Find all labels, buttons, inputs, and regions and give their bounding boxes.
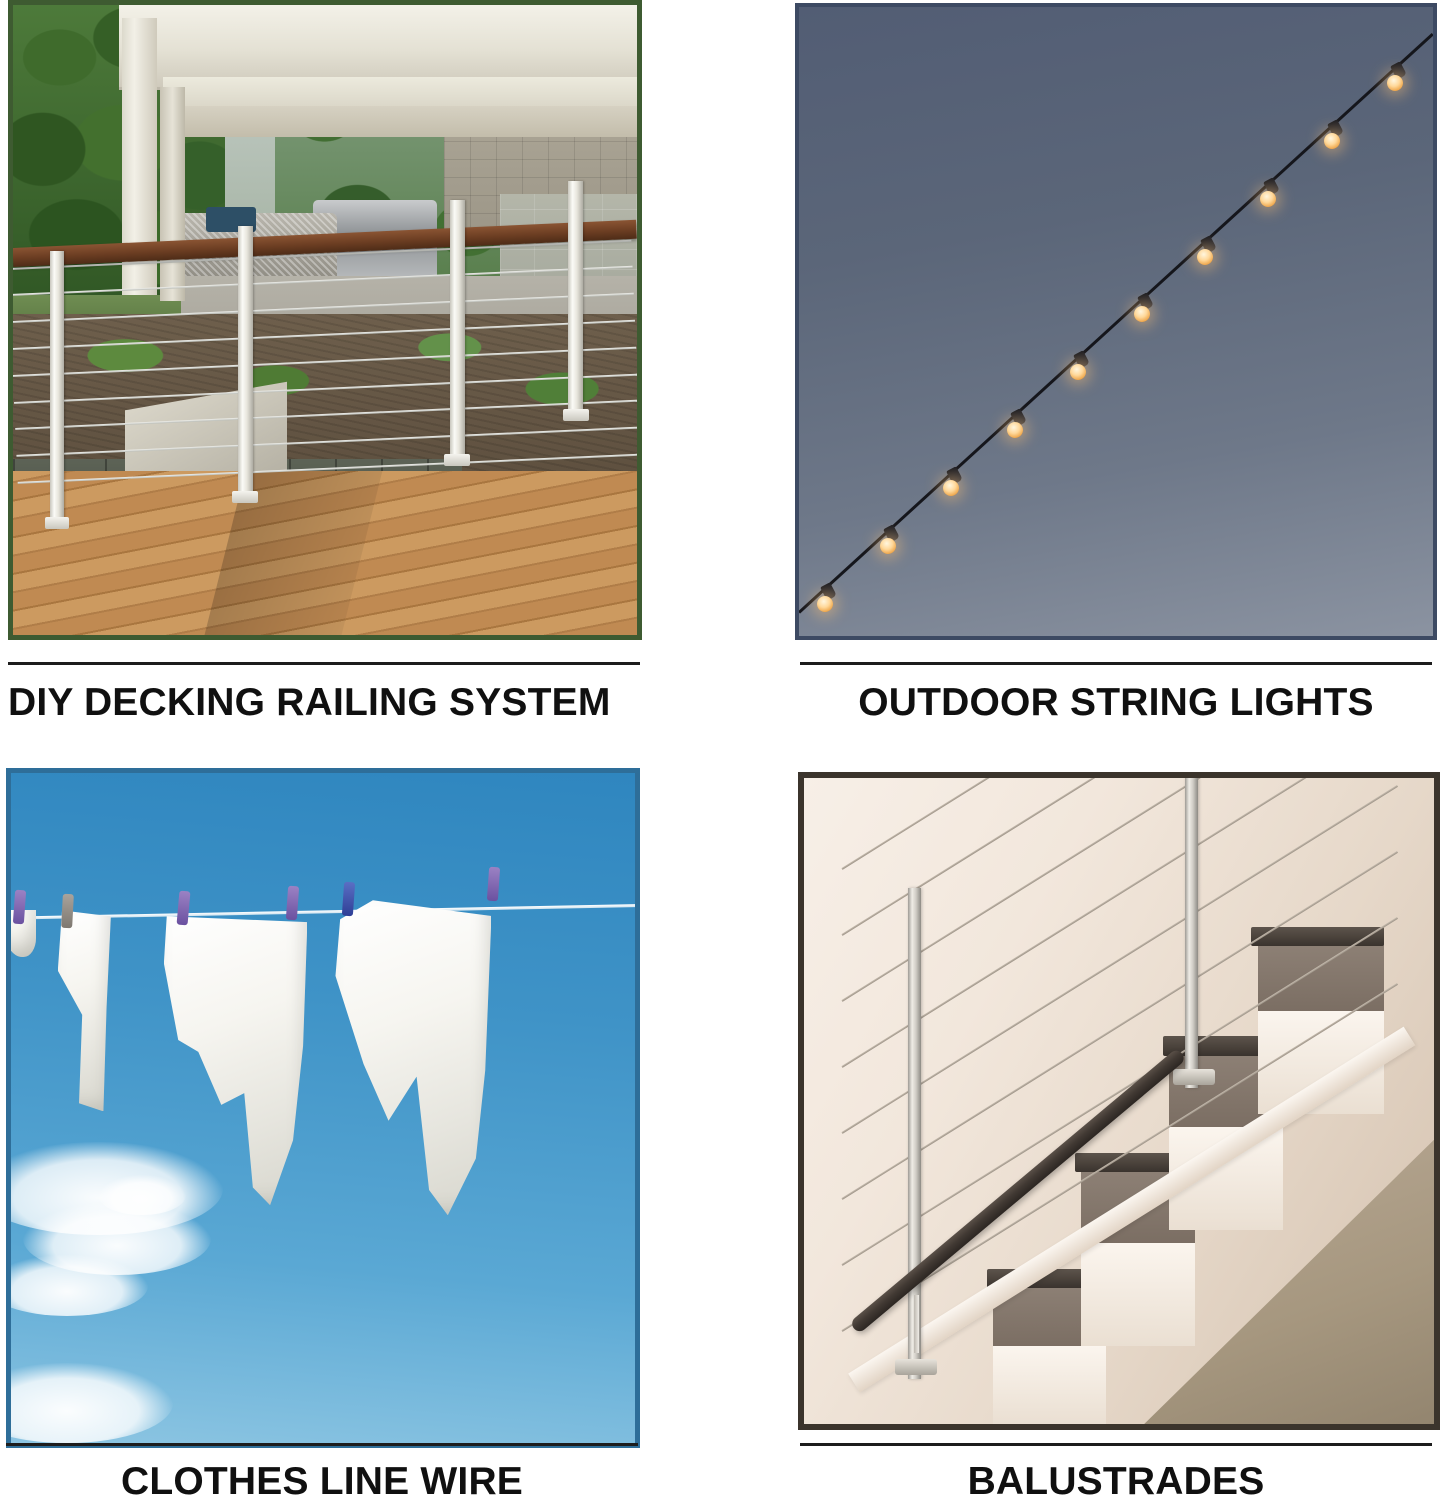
railing-cable-8	[16, 427, 639, 457]
handrail-support-bracket	[914, 1295, 919, 1353]
balustrade-post-2-base	[1173, 1069, 1215, 1085]
balustrade-cable-7	[841, 917, 1398, 1266]
light-bulb-5	[1070, 364, 1086, 380]
railing-post-1	[50, 251, 64, 522]
cloud-5	[98, 1175, 185, 1215]
railing-cable-7	[15, 400, 638, 430]
light-bulb-3	[943, 480, 959, 496]
light-bulb-4	[1007, 422, 1023, 438]
balustrade-cable-8	[841, 983, 1398, 1332]
light-bulb-9	[1324, 133, 1340, 149]
balustrade-cable-6	[841, 851, 1398, 1200]
balustrade-cable-1	[841, 772, 1398, 870]
railing-cables	[8, 235, 642, 496]
balustrade-cable-2	[841, 772, 1398, 936]
string-lights-caption-text: OUTDOOR STRING LIGHTS	[800, 681, 1432, 725]
light-bulb-6	[1134, 306, 1150, 322]
deck-railing-caption-text: DIY DECKING RAILING SYSTEM	[8, 681, 640, 725]
light-bulb-7	[1197, 249, 1213, 265]
balustrade-cable-5	[841, 785, 1398, 1134]
deck-railing-caption-block: DIY DECKING RAILING SYSTEM	[8, 662, 640, 725]
balustrades-caption-text: BALUSTRADES	[800, 1460, 1432, 1504]
caption-divider-rule	[8, 662, 640, 665]
railing-cable-3	[10, 293, 633, 323]
balustrade-post-2	[1185, 778, 1198, 1088]
light-bulb-10	[1387, 75, 1403, 91]
light-strand	[799, 7, 1433, 636]
deck-railing-photo	[8, 0, 642, 640]
string-lights-caption-block: OUTDOOR STRING LIGHTS	[800, 662, 1432, 725]
clothespin-2	[61, 893, 74, 928]
clothespin-4	[286, 885, 299, 920]
railing-cable-6	[14, 374, 637, 404]
railing-post-2	[238, 226, 253, 497]
caption-divider-rule	[6, 1443, 638, 1446]
caption-divider-rule	[800, 662, 1432, 665]
balustrades-photo	[798, 772, 1440, 1430]
railing-post-4	[568, 181, 583, 414]
light-bulb-1	[817, 596, 833, 612]
caption-divider-rule	[800, 1443, 1432, 1446]
railing-post-3	[450, 200, 465, 458]
clothes-line-caption-text: CLOTHES LINE WIRE	[6, 1460, 638, 1504]
railing-cable-5	[13, 347, 636, 377]
balustrade-post-1-base	[895, 1359, 937, 1375]
clothes-line-photo	[6, 768, 640, 1448]
light-bulb-2	[880, 538, 896, 554]
porch-ceiling	[181, 106, 637, 138]
feature-grid-board: DIY DECKING RAILING SYSTEM OUTDOOR STRIN…	[0, 0, 1445, 1495]
light-bulb-8	[1260, 191, 1276, 207]
railing-cable-4	[12, 320, 635, 350]
string-lights-photo	[795, 3, 1437, 640]
clothespin-5	[342, 881, 355, 916]
blue-sky-background	[11, 773, 635, 1443]
railing-cable-2	[9, 267, 632, 297]
